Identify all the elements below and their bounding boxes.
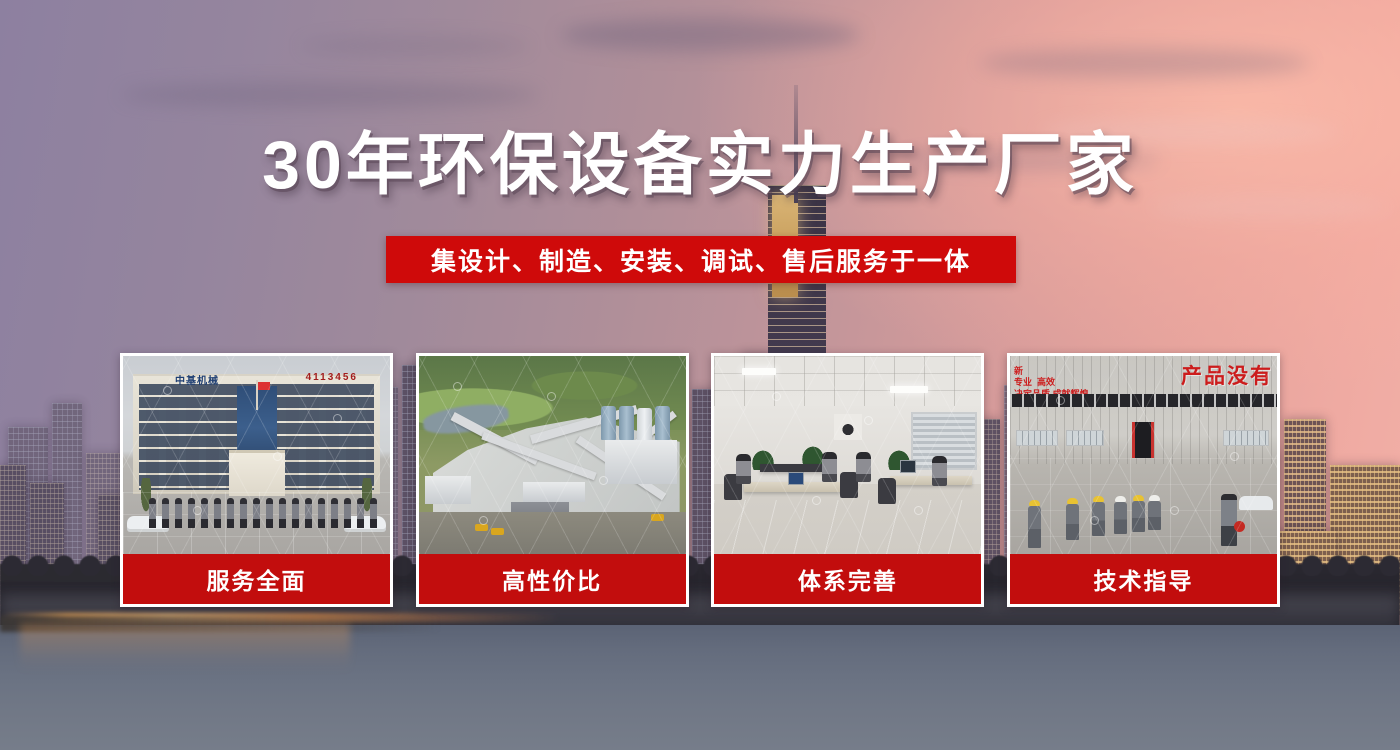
- office-interior-photo: [714, 356, 981, 554]
- factory-slogan-main: 产品没有: [1181, 360, 1273, 390]
- subtitle-text: 集设计、制造、安装、调试、售后服务于一体: [431, 242, 971, 278]
- feature-card[interactable]: 高性价比: [416, 353, 689, 607]
- cloud-shape: [300, 36, 530, 56]
- promo-banner: 30年环保设备实力生产厂家 集设计、制造、安装、调试、售后服务于一体 中基机械 …: [0, 0, 1400, 750]
- building-sign-text: 中基机械: [175, 372, 219, 387]
- feature-card[interactable]: 体系完善: [711, 353, 984, 607]
- water-reflection: [20, 624, 350, 672]
- card-caption: 体系完善: [714, 554, 981, 604]
- company-headquarters-photo: 中基机械 4113456: [123, 356, 390, 554]
- card-caption: 服务全面: [123, 554, 390, 604]
- cloud-shape: [120, 82, 540, 108]
- card-caption: 高性价比: [419, 554, 686, 604]
- feature-card[interactable]: 中基机械 4113456: [120, 353, 393, 607]
- feature-card-list: 中基机械 4113456: [120, 353, 1280, 607]
- building-phone-text: 4113456: [306, 372, 358, 383]
- page-title: 30年环保设备实力生产厂家: [0, 131, 1400, 199]
- card-caption: 技术指导: [1010, 554, 1277, 604]
- production-plant-aerial-photo: [419, 356, 686, 554]
- subtitle-banner: 集设计、制造、安装、调试、售后服务于一体: [386, 236, 1016, 283]
- cloud-shape: [560, 18, 860, 52]
- cloud-shape: [980, 48, 1310, 78]
- feature-card[interactable]: 产品没有 新专业 高效决定品质 成就辉煌: [1007, 353, 1280, 607]
- workshop-training-photo: 产品没有 新专业 高效决定品质 成就辉煌: [1010, 356, 1277, 554]
